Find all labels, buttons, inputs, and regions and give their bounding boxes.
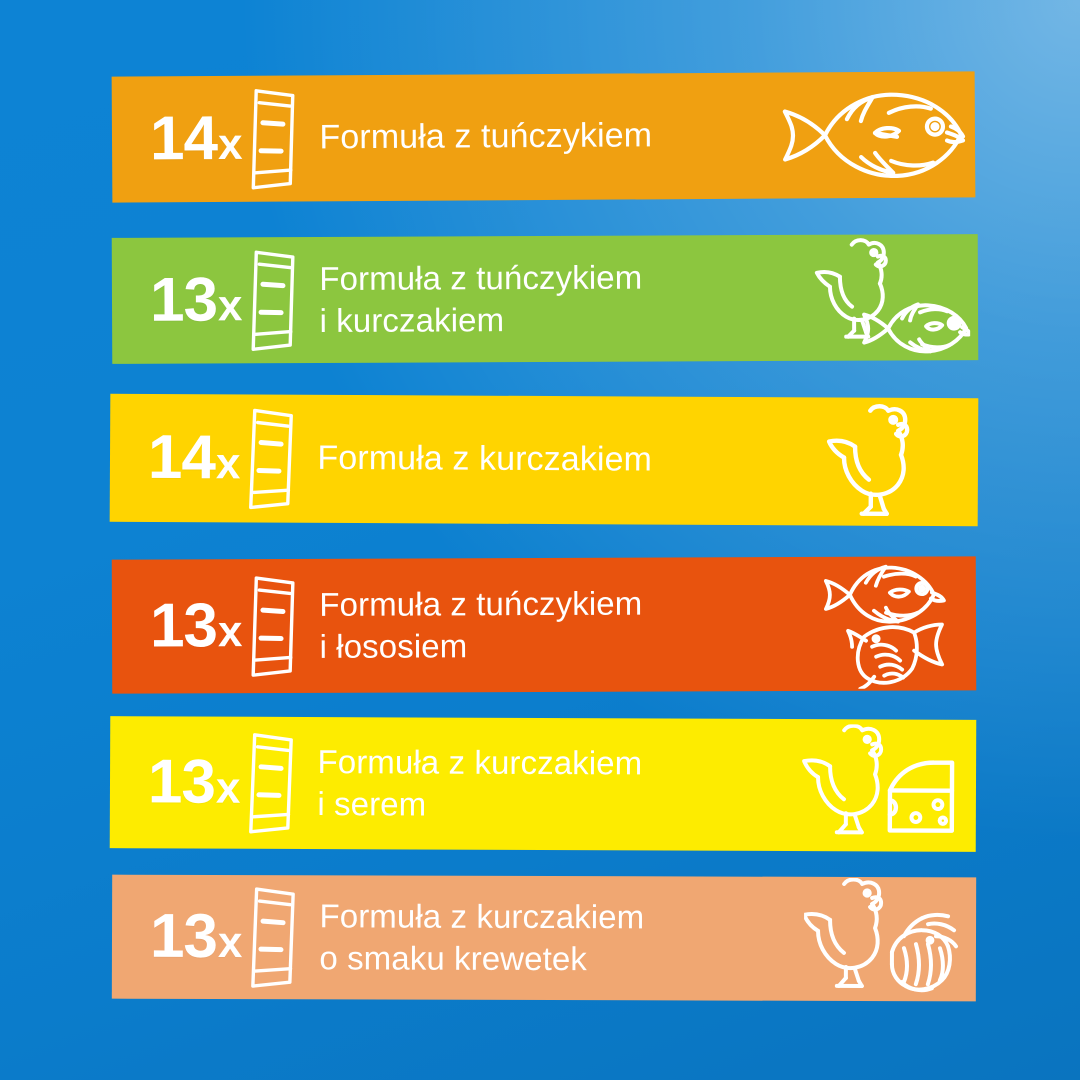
list-item[interactable]: 13x Formuła z tuńczykiem i kurczakiem (112, 234, 979, 364)
count-multiplier: x (216, 767, 240, 811)
sachet-icon (247, 246, 301, 354)
promo-graphic: 14x Formuła z tuńczykiem (0, 0, 1080, 1080)
row-content: 13x Formuła z kurczakiem i serem (110, 716, 977, 852)
sachet-icon (245, 729, 299, 837)
chicken-and-shrimp-icon (804, 878, 968, 1001)
row-content: 14x Formuła z tuńczykiem (112, 71, 976, 202)
row-content: 14x Formuła z kurczakiem (110, 394, 979, 527)
count-badge: 13x (150, 269, 242, 331)
list-item[interactable]: 13x Formuła z kurczakiem o smaku krewete… (112, 875, 976, 1002)
count-badge: 14x (150, 108, 242, 171)
tuna-and-salmon-icon (814, 558, 950, 689)
variant-label: Formuła z kurczakiem i serem (317, 741, 642, 827)
count-multiplier: x (218, 284, 242, 328)
count-number: 14 (148, 427, 215, 489)
list-item[interactable]: 14x Formuła z kurczakiem (110, 394, 979, 527)
count-number: 13 (148, 751, 215, 813)
sachet-icon (247, 883, 301, 991)
variant-label: Formuła z tuńczykiem (319, 115, 652, 161)
list-item[interactable]: 13x Formuła z kurczakiem i serem (110, 716, 977, 852)
variant-label: Formuła z kurczakiem o smaku krewetek (319, 895, 644, 980)
sachet-icon (247, 572, 301, 680)
row-content: 13x Formuła z tuńczykiem i łososiem (112, 556, 977, 693)
row-content: 13x Formuła z kurczakiem o smaku krewete… (112, 875, 976, 1002)
count-badge: 13x (150, 595, 242, 657)
count-badge: 14x (148, 427, 240, 489)
chicken-icon (822, 402, 927, 521)
count-number: 14 (150, 108, 217, 170)
variety-list: 14x Formuła z tuńczykiem (0, 0, 1080, 1080)
sachet-icon (247, 84, 302, 192)
count-number: 13 (150, 906, 217, 968)
list-item[interactable]: 13x Formuła z tuńczykiem i łososiem (112, 556, 977, 693)
count-multiplier: x (218, 921, 242, 965)
variant-label: Formuła z tuńczykiem i kurczakiem (319, 256, 642, 342)
row-content: 13x Formuła z tuńczykiem i kurczakiem (112, 234, 979, 364)
chicken-and-cheese-icon (802, 724, 963, 847)
count-number: 13 (150, 595, 217, 657)
count-multiplier: x (218, 610, 242, 654)
list-item[interactable]: 14x Formuła z tuńczykiem (112, 71, 976, 202)
variant-label: Formuła z kurczakiem (317, 437, 652, 482)
tuna-fish-icon (769, 82, 970, 187)
count-badge: 13x (150, 906, 242, 968)
count-number: 13 (150, 269, 217, 331)
count-multiplier: x (218, 123, 242, 167)
chicken-and-tuna-icon (810, 236, 971, 359)
count-multiplier: x (216, 442, 240, 486)
count-badge: 13x (148, 751, 240, 813)
variant-label: Formuła z tuńczykiem i łososiem (319, 582, 642, 668)
sachet-icon (245, 404, 300, 512)
